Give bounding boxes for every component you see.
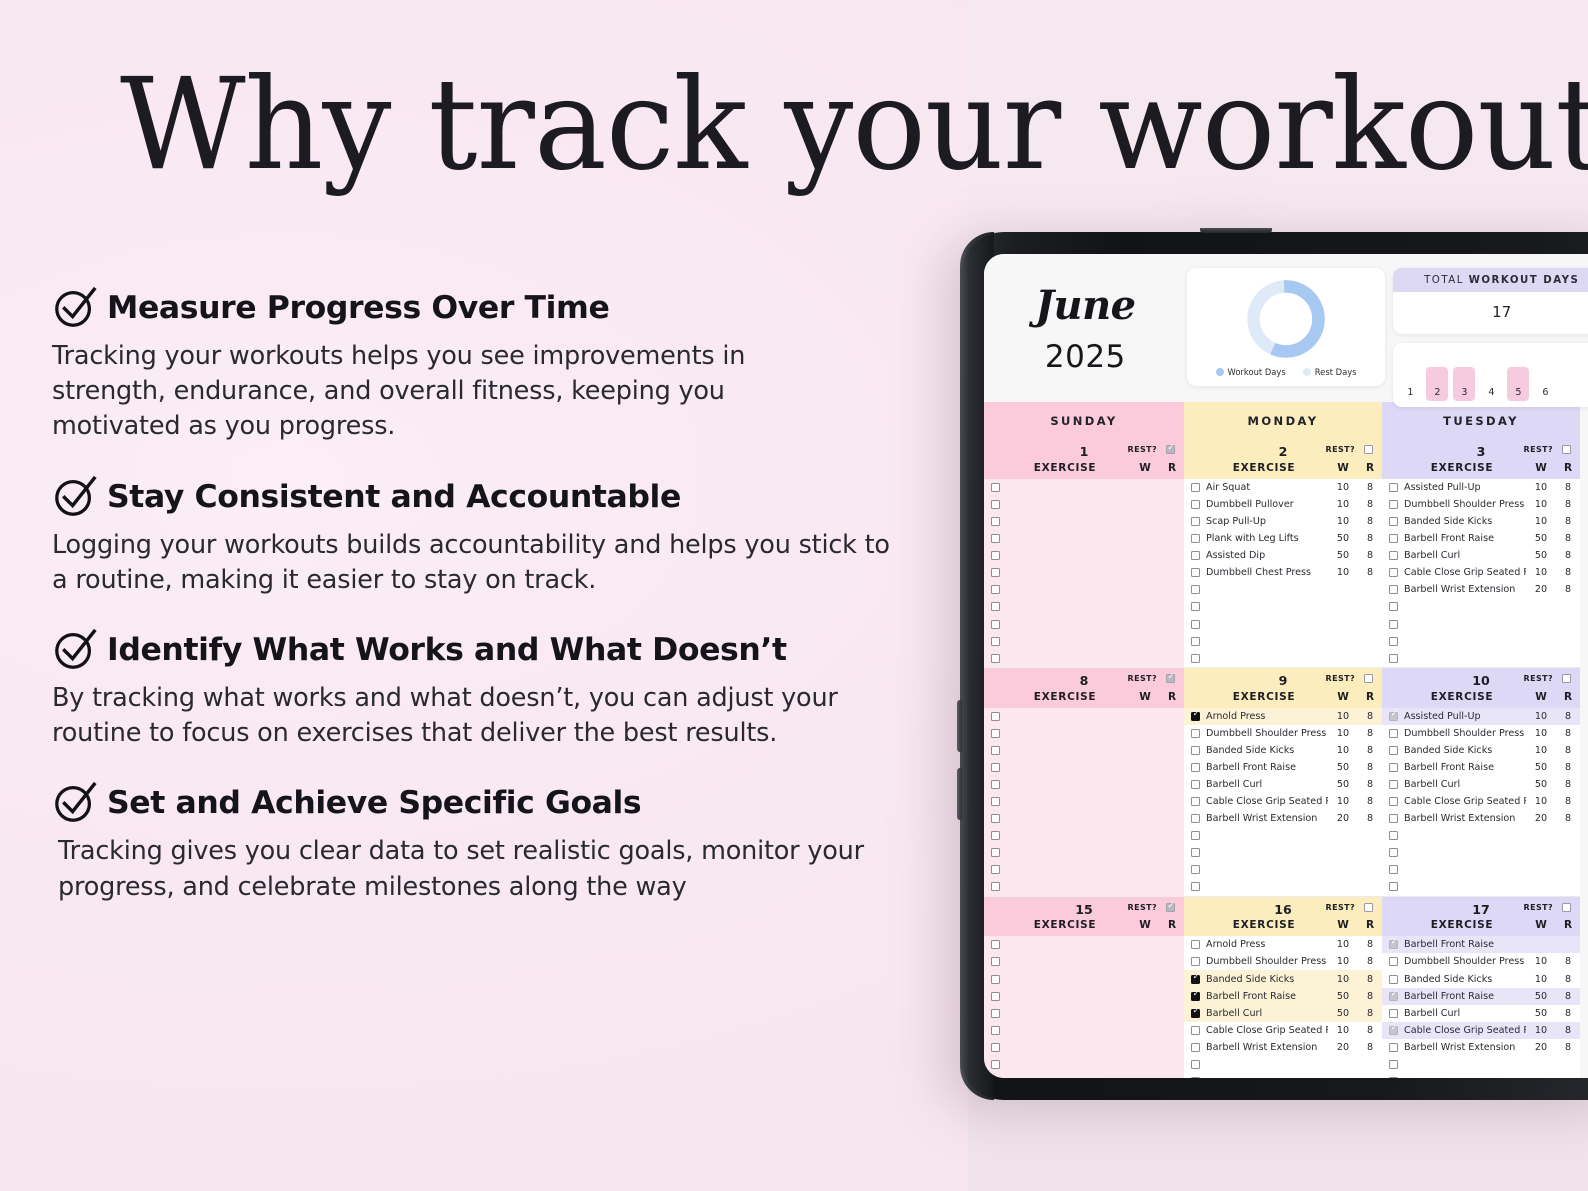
exercise-checkbox[interactable]	[1191, 1077, 1200, 1078]
rest-label: REST?	[1524, 674, 1553, 683]
exercise-checkbox[interactable]	[1191, 1026, 1200, 1035]
exercise-checkbox[interactable]	[1389, 534, 1398, 543]
volume-down-button[interactable]	[957, 768, 962, 820]
exercise-checkbox[interactable]	[1191, 763, 1200, 772]
exercise-name: Air Squat	[1206, 482, 1328, 493]
rest-checkbox[interactable]	[1166, 903, 1175, 912]
exercise-row[interactable]	[984, 844, 1184, 861]
exercise-row[interactable]: Arnold Press108	[1184, 708, 1382, 725]
exercise-checkbox[interactable]	[991, 1060, 1000, 1069]
exercise-checkbox[interactable]	[1191, 551, 1200, 560]
exercise-rows	[984, 708, 1184, 896]
subheader-reps: R	[1358, 691, 1382, 703]
exercise-checkbox[interactable]	[991, 1009, 1000, 1018]
exercise-row[interactable]	[1382, 844, 1580, 861]
exercise-row[interactable]	[984, 827, 1184, 844]
exercise-checkbox[interactable]	[991, 882, 1000, 891]
exercise-checkbox[interactable]	[1389, 500, 1398, 509]
exercise-reps: 8	[1556, 991, 1580, 1002]
power-button[interactable]	[1200, 228, 1272, 233]
day-strip-cell[interactable]: 2	[1426, 367, 1448, 401]
legend-swatch-rest	[1303, 368, 1311, 376]
column-subheader: EXERCISEWR	[1382, 460, 1580, 479]
exercise-checkbox[interactable]	[991, 1077, 1000, 1078]
exercise-checkbox[interactable]	[991, 602, 1000, 611]
exercise-rows: Arnold Press108Dumbbell Shoulder Press10…	[1184, 936, 1382, 1078]
exercise-name: Barbell Front Raise	[1404, 991, 1526, 1002]
exercise-checkbox[interactable]	[991, 1026, 1000, 1035]
exercise-checkbox[interactable]	[1191, 882, 1200, 891]
exercise-rows	[984, 479, 1184, 667]
exercise-checkbox[interactable]	[991, 957, 1000, 966]
exercise-checkbox[interactable]	[1191, 940, 1200, 949]
exercise-name: Dumbbell Shoulder Press	[1404, 728, 1526, 739]
exercise-checkbox[interactable]	[1389, 483, 1398, 492]
exercise-row[interactable]: Cable Close Grip Seated Row108	[1382, 793, 1580, 810]
exercise-row[interactable]	[1184, 1056, 1382, 1073]
rest-checkbox[interactable]	[1166, 674, 1175, 683]
exercise-row[interactable]	[1184, 878, 1382, 895]
exercise-row[interactable]: Dumbbell Shoulder Press108	[1382, 953, 1580, 970]
exercise-row[interactable]	[984, 988, 1184, 1005]
exercise-row[interactable]: Barbell Curl508	[1382, 547, 1580, 564]
exercise-row[interactable]	[984, 878, 1184, 895]
exercise-checkbox[interactable]	[1389, 1077, 1398, 1078]
exercise-row[interactable]: Banded Side Kicks108	[1184, 742, 1382, 759]
exercise-checkbox[interactable]	[1389, 975, 1398, 984]
day-strip-number: 1	[1407, 387, 1413, 398]
exercise-checkbox[interactable]	[991, 865, 1000, 874]
label-bold: WORKOUT DAYS	[1469, 275, 1580, 286]
exercise-row[interactable]: Dumbbell Shoulder Press108	[1382, 725, 1580, 742]
exercise-checkbox[interactable]	[991, 712, 1000, 721]
exercise-checkbox[interactable]	[1191, 865, 1200, 874]
exercise-checkbox[interactable]	[991, 814, 1000, 823]
exercise-row[interactable]: Barbell Curl508	[1184, 1005, 1382, 1022]
exercise-row[interactable]	[1184, 861, 1382, 878]
exercise-row[interactable]	[1382, 1073, 1580, 1078]
exercise-checkbox[interactable]	[1389, 957, 1398, 966]
exercise-checkbox[interactable]	[1191, 654, 1200, 663]
exercise-row[interactable]: Barbell Wrist Extension208	[1184, 810, 1382, 827]
exercise-row[interactable]: Barbell Wrist Extension208	[1382, 581, 1580, 598]
exercise-weight: 10	[1526, 1025, 1556, 1036]
exercise-reps: 8	[1556, 745, 1580, 756]
rest-checkbox[interactable]	[1562, 445, 1571, 454]
day-header-bar: 15REST?EXERCISEWR	[984, 897, 1184, 937]
exercise-checkbox[interactable]	[1389, 1060, 1398, 1069]
rest-checkbox[interactable]	[1364, 445, 1373, 454]
legend-item-rest-days: Rest Days	[1303, 367, 1357, 377]
exercise-weight: 10	[1328, 567, 1358, 578]
exercise-row[interactable]: Barbell Front Raise	[1382, 936, 1580, 953]
exercise-checkbox[interactable]	[1191, 483, 1200, 492]
exercise-row[interactable]	[984, 970, 1184, 987]
day-strip-cell[interactable]: 5	[1507, 367, 1529, 401]
exercise-name: Banded Side Kicks	[1206, 974, 1328, 985]
exercise-checkbox[interactable]	[1389, 831, 1398, 840]
rest-checkbox[interactable]	[1364, 903, 1373, 912]
day-strip-cell[interactable]: 6	[1534, 371, 1556, 401]
exercise-checkbox[interactable]	[991, 746, 1000, 755]
exercise-row[interactable]: Barbell Wrist Extension208	[1382, 1039, 1580, 1056]
exercise-row[interactable]: Dumbbell Chest Press108	[1184, 564, 1382, 581]
exercise-name: Barbell Wrist Extension	[1206, 813, 1328, 824]
exercise-name: Dumbbell Shoulder Press	[1206, 956, 1328, 967]
exercise-reps: 8	[1358, 516, 1382, 527]
exercise-row[interactable]: Assisted Pull-Up108	[1382, 708, 1580, 725]
exercise-checkbox[interactable]	[1389, 780, 1398, 789]
total-workout-days-card: TOTAL WORKOUT DAYS 17	[1393, 268, 1588, 334]
exercise-checkbox[interactable]	[1191, 848, 1200, 857]
exercise-rows: Assisted Pull-Up108Dumbbell Shoulder Pre…	[1382, 708, 1580, 896]
exercise-row[interactable]	[984, 1056, 1184, 1073]
exercise-checkbox[interactable]	[991, 940, 1000, 949]
exercise-name: Barbell Front Raise	[1206, 762, 1328, 773]
exercise-checkbox[interactable]	[1389, 882, 1398, 891]
exercise-row[interactable]	[984, 953, 1184, 970]
exercise-row[interactable]	[1184, 581, 1382, 598]
exercise-row[interactable]	[984, 725, 1184, 742]
exercise-reps: 8	[1358, 974, 1382, 985]
exercise-row[interactable]	[1382, 633, 1580, 650]
exercise-checkbox[interactable]	[1389, 763, 1398, 772]
exercise-checkbox[interactable]	[1389, 602, 1398, 611]
subheader-exercise: EXERCISE	[1382, 691, 1526, 703]
exercise-row[interactable]	[984, 496, 1184, 513]
exercise-reps: 8	[1556, 1008, 1580, 1019]
exercise-row[interactable]	[984, 936, 1184, 953]
exercise-row[interactable]	[984, 650, 1184, 667]
column-subheader: EXERCISEWR	[1382, 917, 1580, 936]
exercise-row[interactable]: Cable Close Grip Seated Row108	[1382, 1022, 1580, 1039]
exercise-row[interactable]	[1382, 827, 1580, 844]
exercise-checkbox[interactable]	[1389, 568, 1398, 577]
exercise-row[interactable]: Barbell Front Raise508	[1382, 759, 1580, 776]
exercise-name: Barbell Curl	[1206, 1008, 1328, 1019]
exercise-row[interactable]	[984, 1005, 1184, 1022]
exercise-checkbox[interactable]	[991, 763, 1000, 772]
exercise-name: Dumbbell Chest Press	[1206, 567, 1328, 578]
exercise-checkbox[interactable]	[1389, 746, 1398, 755]
rest-checkbox[interactable]	[1562, 674, 1571, 683]
exercise-name: Barbell Wrist Extension	[1206, 1042, 1328, 1053]
exercise-checkbox[interactable]	[1389, 797, 1398, 806]
exercise-row[interactable]: Cable Close Grip Seated Row108	[1184, 1022, 1382, 1039]
exercise-row[interactable]	[984, 861, 1184, 878]
exercise-checkbox[interactable]	[991, 797, 1000, 806]
exercise-name: Banded Side Kicks	[1404, 974, 1526, 985]
exercise-row[interactable]	[1184, 633, 1382, 650]
exercise-name: Assisted Pull-Up	[1404, 482, 1526, 493]
exercise-checkbox[interactable]	[1191, 729, 1200, 738]
rest-label: REST?	[1128, 903, 1157, 912]
exercise-checkbox[interactable]	[1191, 992, 1200, 1001]
day-strip-cell[interactable]: 3	[1453, 367, 1475, 401]
exercise-checkbox[interactable]	[1389, 865, 1398, 874]
exercise-checkbox[interactable]	[991, 483, 1000, 492]
exercise-checkbox[interactable]	[1389, 940, 1398, 949]
exercise-weight: 50	[1526, 550, 1556, 561]
exercise-row[interactable]	[984, 708, 1184, 725]
exercise-checkbox[interactable]	[991, 780, 1000, 789]
exercise-row[interactable]: Barbell Wrist Extension208	[1382, 810, 1580, 827]
exercise-name: Cable Close Grip Seated Row	[1404, 1025, 1526, 1036]
exercise-row[interactable]: Barbell Curl508	[1382, 776, 1580, 793]
exercise-row[interactable]	[984, 1073, 1184, 1078]
exercise-checkbox[interactable]	[1389, 585, 1398, 594]
exercise-reps: 8	[1556, 813, 1580, 824]
exercise-row[interactable]: Barbell Wrist Extension208	[1184, 1039, 1382, 1056]
exercise-checkbox[interactable]	[991, 568, 1000, 577]
exercise-checkbox[interactable]	[1191, 568, 1200, 577]
exercise-checkbox[interactable]	[991, 992, 1000, 1001]
exercise-row[interactable]	[1382, 598, 1580, 615]
exercise-row[interactable]	[984, 479, 1184, 496]
exercise-row[interactable]	[1382, 615, 1580, 632]
exercise-checkbox[interactable]	[1389, 1009, 1398, 1018]
exercise-checkbox[interactable]	[1389, 1026, 1398, 1035]
day-strip-cell[interactable]: 1	[1399, 371, 1421, 401]
benefit-title: Measure Progress Over Time	[107, 290, 609, 326]
exercise-rows: Air Squat108Dumbbell Pullover108Scap Pul…	[1184, 479, 1382, 667]
exercise-name: Barbell Front Raise	[1404, 762, 1526, 773]
exercise-row[interactable]: Barbell Curl508	[1184, 776, 1382, 793]
donut-chart-graphic	[1242, 275, 1330, 363]
exercise-reps: 8	[1556, 550, 1580, 561]
exercise-checkbox[interactable]	[991, 654, 1000, 663]
exercise-row[interactable]	[984, 1022, 1184, 1039]
exercise-checkbox[interactable]	[991, 729, 1000, 738]
exercise-row[interactable]: Dumbbell Shoulder Press108	[1382, 496, 1580, 513]
exercise-checkbox[interactable]	[1389, 551, 1398, 560]
exercise-checkbox[interactable]	[1191, 712, 1200, 721]
exercise-row[interactable]: Assisted Dip508	[1184, 547, 1382, 564]
benefit-heading-row: Identify What Works and What Doesn’t	[52, 628, 932, 672]
rest-label: REST?	[1128, 674, 1157, 683]
volume-up-button[interactable]	[957, 700, 962, 752]
exercise-name: Barbell Wrist Extension	[1404, 1042, 1526, 1053]
exercise-checkbox[interactable]	[1389, 517, 1398, 526]
exercise-checkbox[interactable]	[1191, 602, 1200, 611]
rest-checkbox[interactable]	[1364, 674, 1373, 683]
exercise-checkbox[interactable]	[991, 585, 1000, 594]
exercise-reps: 8	[1358, 813, 1382, 824]
exercise-row[interactable]	[984, 810, 1184, 827]
exercise-name: Barbell Front Raise	[1206, 991, 1328, 1002]
exercise-name: Barbell Wrist Extension	[1404, 813, 1526, 824]
exercise-checkbox[interactable]	[1191, 1060, 1200, 1069]
exercise-reps: 8	[1556, 499, 1580, 510]
exercise-checkbox[interactable]	[1389, 848, 1398, 857]
exercise-checkbox[interactable]	[1389, 992, 1398, 1001]
day-header-bar: 17REST?EXERCISEWR	[1382, 897, 1580, 937]
exercise-row[interactable]	[984, 1039, 1184, 1056]
exercise-row[interactable]	[984, 742, 1184, 759]
exercise-row[interactable]: Scap Pull-Up108	[1184, 513, 1382, 530]
exercise-row[interactable]	[1382, 650, 1580, 667]
exercise-checkbox[interactable]	[1191, 797, 1200, 806]
exercise-checkbox[interactable]	[1389, 729, 1398, 738]
day-strip-number: 2	[1434, 387, 1440, 398]
exercise-row[interactable]	[1184, 844, 1382, 861]
check-circle-icon	[52, 626, 98, 672]
subheader-weight: W	[1328, 462, 1358, 474]
workout-rest-donut-chart: Workout Days Rest Days	[1187, 268, 1386, 386]
chart-legend: Workout Days Rest Days	[1187, 367, 1386, 377]
exercise-row[interactable]	[1184, 615, 1382, 632]
exercise-weight: 10	[1328, 956, 1358, 967]
exercise-weight: 50	[1526, 779, 1556, 790]
exercise-row[interactable]: Arnold Press108	[1184, 936, 1382, 953]
exercise-weight: 10	[1328, 482, 1358, 493]
subheader-exercise: EXERCISE	[1382, 919, 1526, 931]
exercise-row[interactable]: Assisted Pull-Up108	[1382, 479, 1580, 496]
benefit-heading-row: Stay Consistent and Accountable	[52, 475, 932, 519]
exercise-checkbox[interactable]	[1191, 831, 1200, 840]
total-workout-days-value: 17	[1393, 292, 1588, 334]
exercise-row[interactable]	[1382, 878, 1580, 895]
exercise-checkbox[interactable]	[1389, 712, 1398, 721]
subheader-exercise: EXERCISE	[984, 691, 1130, 703]
exercise-weight: 50	[1526, 762, 1556, 773]
exercise-row[interactable]	[1184, 827, 1382, 844]
exercise-checkbox[interactable]	[991, 500, 1000, 509]
benefit-heading-row: Measure Progress Over Time	[52, 286, 932, 330]
exercise-checkbox[interactable]	[1191, 620, 1200, 629]
exercise-checkbox[interactable]	[1191, 746, 1200, 755]
exercise-weight: 20	[1328, 813, 1358, 824]
exercise-reps: 8	[1358, 991, 1382, 1002]
exercise-weight: 20	[1328, 1042, 1358, 1053]
exercise-checkbox[interactable]	[1191, 500, 1200, 509]
exercise-name: Arnold Press	[1206, 711, 1328, 722]
exercise-row[interactable]	[984, 513, 1184, 530]
exercise-row[interactable]: Barbell Front Raise508	[1382, 988, 1580, 1005]
rest-label: REST?	[1524, 445, 1553, 454]
exercise-name: Barbell Front Raise	[1404, 939, 1526, 950]
label-light: TOTAL	[1424, 275, 1469, 286]
exercise-row[interactable]	[1184, 650, 1382, 667]
exercise-checkbox[interactable]	[1389, 620, 1398, 629]
exercise-weight: 10	[1526, 796, 1556, 807]
exercise-row[interactable]	[1382, 1056, 1580, 1073]
exercise-row[interactable]	[984, 564, 1184, 581]
exercise-checkbox[interactable]	[1191, 957, 1200, 966]
day-strip-number: 5	[1515, 387, 1521, 398]
exercise-reps: 8	[1358, 533, 1382, 544]
day-strip-cell[interactable]: 4	[1480, 371, 1502, 401]
rest-checkbox[interactable]	[1562, 903, 1571, 912]
exercise-reps: 8	[1556, 533, 1580, 544]
exercise-reps: 8	[1358, 779, 1382, 790]
exercise-reps: 8	[1358, 728, 1382, 739]
exercise-checkbox[interactable]	[991, 620, 1000, 629]
check-circle-icon	[52, 473, 98, 519]
exercise-row[interactable]: Plank with Leg Lifts508	[1184, 530, 1382, 547]
exercise-checkbox[interactable]	[1389, 654, 1398, 663]
exercise-checkbox[interactable]	[1191, 637, 1200, 646]
rest-checkbox[interactable]	[1166, 445, 1175, 454]
subheader-weight: W	[1526, 462, 1556, 474]
exercise-row[interactable]: Dumbbell Shoulder Press108	[1184, 953, 1382, 970]
exercise-row[interactable]	[984, 776, 1184, 793]
rest-label: REST?	[1128, 445, 1157, 454]
calendar-day-cell: 3REST?EXERCISEWRAssisted Pull-Up108Dumbb…	[1382, 439, 1580, 668]
exercise-row[interactable]: Barbell Curl508	[1382, 1005, 1580, 1022]
exercise-row[interactable]	[1382, 861, 1580, 878]
exercise-checkbox[interactable]	[1191, 585, 1200, 594]
exercise-row[interactable]: Barbell Front Raise508	[1184, 988, 1382, 1005]
exercise-row[interactable]	[984, 793, 1184, 810]
exercise-checkbox[interactable]	[991, 534, 1000, 543]
exercise-checkbox[interactable]	[1191, 975, 1200, 984]
tablet-screen: June 2025 Workout Days Rest Days TOTAL W…	[984, 254, 1588, 1078]
exercise-row[interactable]: Banded Side Kicks108	[1382, 742, 1580, 759]
exercise-checkbox[interactable]	[1389, 1043, 1398, 1052]
exercise-row[interactable]: Dumbbell Shoulder Press108	[1184, 725, 1382, 742]
exercise-checkbox[interactable]	[991, 831, 1000, 840]
exercise-checkbox[interactable]	[991, 975, 1000, 984]
exercise-row[interactable]: Dumbbell Pullover108	[1184, 496, 1382, 513]
exercise-row[interactable]	[984, 530, 1184, 547]
exercise-row[interactable]: Barbell Front Raise508	[1184, 759, 1382, 776]
exercise-row[interactable]	[984, 759, 1184, 776]
exercise-checkbox[interactable]	[1191, 517, 1200, 526]
exercise-row[interactable]	[984, 633, 1184, 650]
exercise-row[interactable]	[984, 615, 1184, 632]
exercise-checkbox[interactable]	[991, 1043, 1000, 1052]
benefit-description: Tracking your workouts helps you see imp…	[52, 339, 852, 445]
exercise-checkbox[interactable]	[991, 517, 1000, 526]
exercise-reps: 8	[1358, 1042, 1382, 1053]
exercise-weight: 20	[1526, 813, 1556, 824]
exercise-row[interactable]: Cable Close Grip Seated Row108	[1184, 793, 1382, 810]
exercise-row[interactable]: Air Squat108	[1184, 479, 1382, 496]
exercise-row[interactable]	[984, 598, 1184, 615]
calendar-column-mon: MONDAY2REST?EXERCISEWRAir Squat108Dumbbe…	[1184, 402, 1382, 1078]
exercise-name: Cable Close Grip Seated Row	[1206, 1025, 1328, 1036]
exercise-reps: 8	[1556, 956, 1580, 967]
exercise-checkbox[interactable]	[991, 637, 1000, 646]
exercise-row[interactable]	[984, 581, 1184, 598]
exercise-checkbox[interactable]	[1389, 814, 1398, 823]
exercise-row[interactable]	[984, 547, 1184, 564]
exercise-checkbox[interactable]	[1191, 1009, 1200, 1018]
exercise-reps: 8	[1358, 550, 1382, 561]
exercise-name: Cable Close Grip Seated Row	[1404, 796, 1526, 807]
exercise-row[interactable]: Cable Close Grip Seated Row108	[1382, 564, 1580, 581]
day-header-bar: 1REST?EXERCISEWR	[984, 439, 1184, 479]
exercise-row[interactable]: Barbell Front Raise508	[1382, 530, 1580, 547]
exercise-checkbox[interactable]	[1191, 780, 1200, 789]
day-of-week-header: MONDAY	[1184, 402, 1382, 439]
exercise-row[interactable]	[1184, 1073, 1382, 1078]
exercise-checkbox[interactable]	[1191, 814, 1200, 823]
exercise-row[interactable]	[1184, 598, 1382, 615]
exercise-row[interactable]: Banded Side Kicks108	[1382, 513, 1580, 530]
exercise-name: Dumbbell Shoulder Press	[1206, 728, 1328, 739]
exercise-rows	[984, 936, 1184, 1078]
legend-item-workout-days: Workout Days	[1216, 367, 1286, 377]
exercise-checkbox[interactable]	[1191, 1043, 1200, 1052]
exercise-row[interactable]: Banded Side Kicks108	[1184, 970, 1382, 987]
exercise-row[interactable]: Banded Side Kicks108	[1382, 970, 1580, 987]
exercise-checkbox[interactable]	[991, 551, 1000, 560]
exercise-checkbox[interactable]	[991, 848, 1000, 857]
exercise-checkbox[interactable]	[1191, 534, 1200, 543]
exercise-checkbox[interactable]	[1389, 637, 1398, 646]
